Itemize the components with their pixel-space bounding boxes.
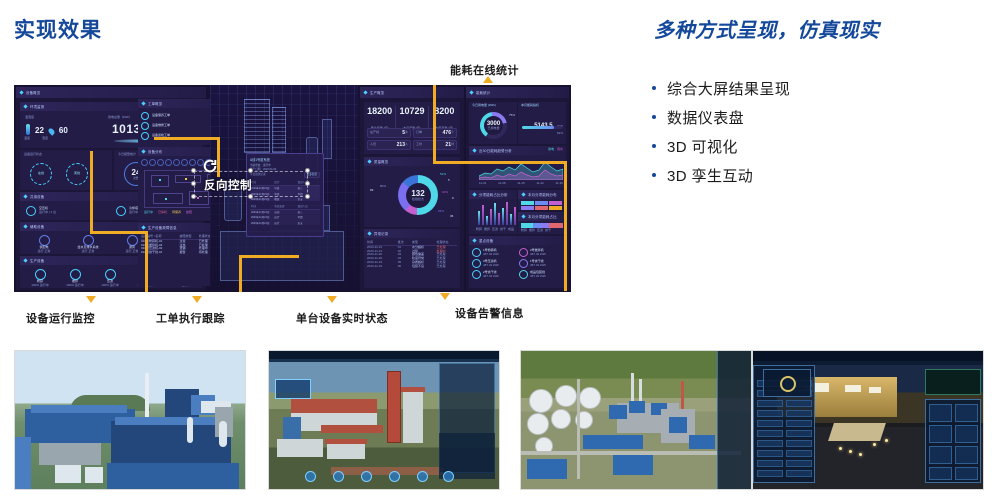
page-title-left: 实现效果 <box>14 14 102 44</box>
legend-swatch <box>549 201 562 205</box>
resize-handle-sw[interactable] <box>191 194 196 199</box>
thermometer-icon <box>26 124 30 135</box>
key-devices-header: 重点设备 <box>469 236 566 245</box>
feature-list: 综合大屏结果呈现 数据仪表盘 3D 可视化 3D 孪生互动 <box>652 78 982 194</box>
callout-line <box>239 255 299 258</box>
diamond-icon <box>141 149 145 153</box>
legend-swatch <box>535 201 548 205</box>
list-item: 3D 孪生互动 <box>652 165 982 194</box>
device-icon <box>472 248 481 257</box>
list-item: 数据仪表盘 <box>652 107 982 136</box>
callout-arrow-down <box>327 296 337 303</box>
device-item: 3号压滤机 487.32 kWh <box>472 259 517 268</box>
bullet-dot-icon <box>652 144 656 148</box>
selected-text-label: 反向控制 <box>204 177 252 193</box>
device-item: 1号粉碎机 487.32 kWh <box>472 248 517 257</box>
bullet-dot-icon <box>652 86 656 90</box>
inspection-icon <box>141 132 149 140</box>
legend-swatch <box>521 206 534 210</box>
layout-chip[interactable] <box>173 159 180 166</box>
bar-xaxis: 粉碎 搅拌 压滤 烘干 成品 <box>476 228 514 232</box>
diamond-icon <box>23 224 27 228</box>
energy-panel-header: 能耗统计 <box>466 87 569 98</box>
energy-bar-header: 分项能耗占比分析 <box>469 190 517 199</box>
stack-legend: 粉碎 搅拌 压滤 烘干 <box>521 229 551 233</box>
trend-legend: 用电 用水 <box>548 148 563 152</box>
device-item: 2号搅拌机 487.32 kWh <box>519 248 564 257</box>
table-row[interactable]: 2023-11-19 06 包装不良 已处理 <box>367 265 457 269</box>
list-item: 3D 可视化 <box>652 136 982 165</box>
diamond-icon <box>141 101 145 105</box>
bullet-dot-icon <box>652 173 656 177</box>
power-gauge: 3000 已用电量 <box>480 112 507 139</box>
callout-line <box>90 151 93 233</box>
screenshot-daytime-plant[interactable] <box>14 350 246 490</box>
resize-handle-ne[interactable] <box>305 168 310 173</box>
layout-chip[interactable] <box>181 159 188 166</box>
layout-chip[interactable] <box>141 159 148 166</box>
diamond-icon <box>367 159 371 163</box>
month-energy-card: 本月能耗指标 5143.5 kWh 81% <box>518 102 566 144</box>
device-status-card: 设备运行状态 在线 离线 <box>20 150 112 190</box>
device-icon <box>472 259 481 268</box>
screenshot-refinery-aerial[interactable] <box>520 350 752 490</box>
energy-distribution-header: 本月分项能耗分布 <box>518 190 566 199</box>
callout-line <box>564 161 567 291</box>
shift-table-b: 时间 状态变更 值班人员 2023年11月21日 启动 张三 2023年11月2… <box>250 203 320 225</box>
diamond-icon <box>23 258 27 262</box>
fan-icon <box>26 206 36 216</box>
pill-stat: 人员 213 人 <box>367 140 411 150</box>
production-panel: 生产概览 18200 累计产量 (吨) 10729 本月产量 (吨) 8200 … <box>360 87 464 290</box>
tower-icon <box>116 206 126 216</box>
callout-line <box>154 137 220 140</box>
layout-chip[interactable] <box>149 159 156 166</box>
diamond-icon <box>23 104 27 108</box>
layout-chip[interactable] <box>189 159 196 166</box>
layout-chip[interactable] <box>157 159 164 166</box>
list-item-label: 数据仪表盘 <box>667 107 744 128</box>
pill-stat: 在产线 5 条 <box>367 128 411 138</box>
diamond-icon <box>521 192 525 196</box>
quality-card: 质量概览 132 检验批次 51% 5 10% 9 25% 36 83 80% <box>364 157 460 227</box>
list-item: 综合大屏结果呈现 <box>652 78 982 107</box>
screenshot-night-warehouse[interactable] <box>752 350 984 490</box>
device-item: 2号烘干线 487.32 kWh <box>472 270 517 279</box>
energy-panel: 能耗统计 今日用电量 (kWh) 3000 已用电量 75% 本月能耗指标 51… <box>466 87 569 290</box>
droplet-icon <box>47 127 55 135</box>
energy-trend-card: 近30日能耗趋势分析 用电 用水 11-01 11-08 11-15 11-22… <box>469 146 566 188</box>
list-item-label: 3D 可视化 <box>667 136 738 157</box>
callout-arrow-down <box>192 296 202 303</box>
layout-legend: 运行中 已停机 待保养 故障 <box>144 211 192 215</box>
quality-donut-chart: 132 检验批次 <box>398 175 438 215</box>
diamond-icon <box>521 214 525 218</box>
slide-root: 实现效果 多种方式呈现，仿真现实 综合大屏结果呈现 数据仪表盘 3D 可视化 3… <box>0 0 1000 498</box>
production-panel-header: 生产概览 <box>360 87 464 98</box>
callout-label-single-device-status: 单台设备实时状态 <box>296 310 388 326</box>
tower-structure <box>272 107 286 153</box>
callout-arrow-up <box>483 76 493 83</box>
exception-list-header: 异常记录 <box>364 229 460 238</box>
resize-handle-w[interactable] <box>191 181 196 186</box>
callout-arrow-down <box>86 296 96 303</box>
kpi-card: 18200 累计产量 (吨) 10729 本月产量 (吨) 8200 本周产量 … <box>364 102 460 154</box>
offline-ring-gauge: 离线 <box>66 163 88 185</box>
key-devices-card: 重点设备 1号粉碎机 487.32 kWh 2号搅拌机 <box>469 236 566 288</box>
callout-line <box>90 231 148 234</box>
diamond-icon <box>472 148 476 152</box>
callout-line <box>145 231 148 292</box>
diamond-icon <box>367 231 371 235</box>
exception-list-card: 异常记录 时间 批次 类型 处理状态 2023-11-21 01 水分超标 已处… <box>364 229 460 288</box>
dashboard-screenshot: 设备概览 环境监测 2023-04-21 温湿度 用电总量（kWh） 22 60 <box>14 85 571 292</box>
device-icon <box>519 259 528 268</box>
resize-handle-se[interactable] <box>305 194 310 199</box>
callout-line <box>239 255 242 292</box>
gauge-panel <box>763 369 811 397</box>
page-title-right: 多种方式呈现，仿真现实 <box>654 14 880 43</box>
diamond-icon <box>141 225 145 229</box>
resize-handle-n[interactable] <box>248 168 253 173</box>
bullet-dot-icon <box>652 115 656 119</box>
device-icon <box>519 248 528 257</box>
progress-fill <box>522 126 554 129</box>
prod-item: 压滤 100% 运行中 <box>93 269 127 288</box>
legend-swatch <box>549 206 562 210</box>
prod-item: 搅拌 100% 运行中 <box>58 269 92 288</box>
device-item: 1号烘干线 487.32 kWh <box>519 259 564 268</box>
progress-track <box>522 126 562 129</box>
diamond-icon <box>23 194 27 198</box>
legend-swatch <box>521 201 534 205</box>
callout-label-device-monitoring: 设备运行监控 <box>26 310 95 326</box>
callout-line <box>433 85 436 163</box>
diamond-icon <box>472 192 476 196</box>
layout-chip[interactable] <box>165 159 172 166</box>
device-icon <box>519 270 528 279</box>
energy-stack-card: 本月分项能耗占比 粉碎 搅拌 压滤 烘干 <box>518 212 566 234</box>
diamond-icon <box>363 90 367 94</box>
callout-label-work-order-tracking: 工单执行跟踪 <box>156 310 225 326</box>
list-item-label: 综合大屏结果呈现 <box>667 78 790 99</box>
resize-handle-nw[interactable] <box>191 168 196 173</box>
trend-xaxis: 11-01 11-08 11-15 11-22 11-30 <box>479 182 563 186</box>
diamond-icon <box>19 90 23 94</box>
device-item: 成品包装线 487.32 kWh <box>519 270 564 279</box>
resize-handle-s[interactable] <box>248 194 253 199</box>
list-item-label: 3D 孪生互动 <box>667 165 753 186</box>
prod-item: 粉碎 100% 运行中 <box>23 269 57 288</box>
repair-icon <box>141 122 149 130</box>
callout-label-device-alarm-info: 设备告警信息 <box>455 305 524 321</box>
tower-structure <box>244 99 270 153</box>
aux-item: 供配电 运行 正常 <box>24 235 64 254</box>
energy-bar-card: 分项能耗占比分析 粉碎 搅拌 压滤 烘干 成品 <box>469 190 517 234</box>
diamond-icon <box>472 238 476 242</box>
legend-swatch <box>535 206 548 210</box>
callout-arrow-down <box>440 293 450 300</box>
online-ring-gauge: 在线 <box>30 163 52 185</box>
callout-line <box>433 161 567 164</box>
device-icon <box>472 270 481 279</box>
diamond-icon <box>469 90 473 94</box>
today-power-card: 今日用电量 (kWh) 3000 已用电量 75% <box>469 102 517 144</box>
table-row[interactable]: 2023年11月21日 运行 王五 <box>250 220 320 225</box>
resize-handle-e[interactable] <box>305 181 310 186</box>
screenshot-digital-twin[interactable] <box>268 350 500 490</box>
wrench-icon <box>141 112 149 120</box>
energy-distribution-card: 本月分项能耗分布 <box>518 190 566 210</box>
energy-stack-header: 本月分项能耗占比 <box>518 212 566 221</box>
aux-item: 给水及排水系统 运行 正常 <box>66 235 110 254</box>
